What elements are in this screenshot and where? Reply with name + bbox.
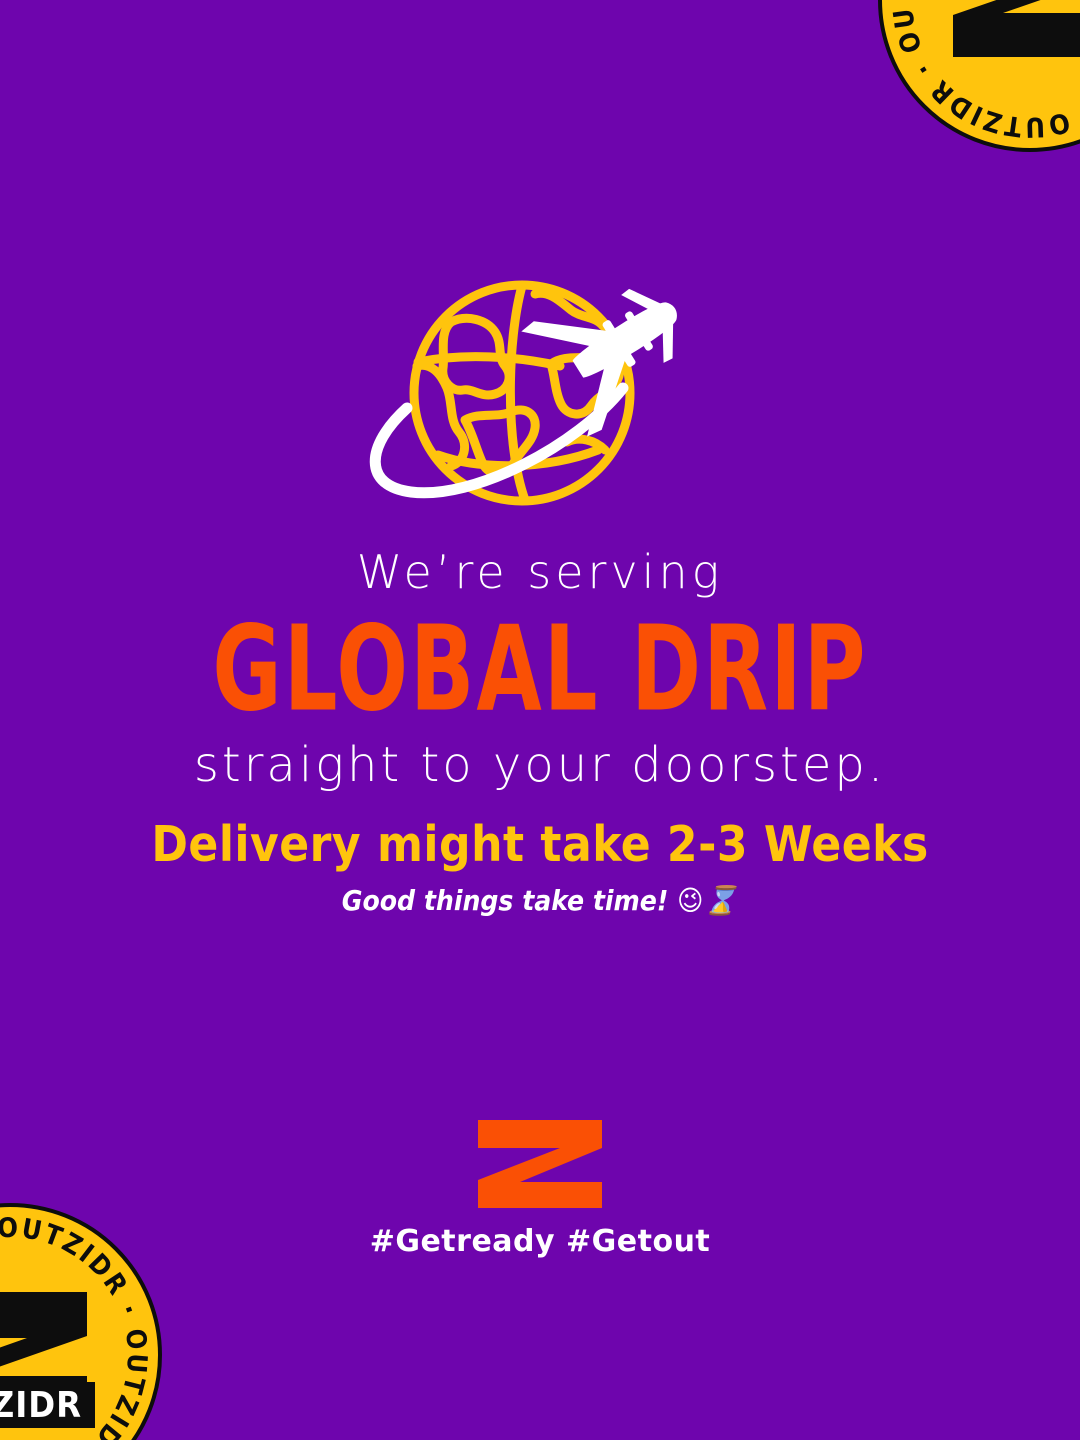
delivery-note: Good things take time! 😉⌛ [0, 886, 1080, 917]
subline-text: straight to your doorstep. [0, 740, 1080, 790]
delivery-block: Delivery might take 2-3 Weeks Good thing… [0, 818, 1080, 917]
hashtags-text: #Getready #Getout [0, 1224, 1080, 1259]
continent-west [417, 365, 465, 466]
poster-canvas: OUTZIDR · OUTZIDR · OUTZIDR · OUTZIDR · … [0, 0, 1080, 1440]
badge-wordmark: OUTZIDR [0, 1382, 95, 1428]
headline-block: We’re serving GLOBAL DRIP straight to yo… [0, 548, 1080, 790]
eyebrow-text: We’re serving [0, 548, 1080, 596]
page-title: GLOBAL DRIP [0, 606, 1080, 733]
footer-block: #Getready #Getout [0, 1118, 1080, 1259]
delivery-estimate: Delivery might take 2-3 Weeks [0, 818, 1080, 872]
badge-top-right: OUTZIDR · OUTZIDR · OUTZIDR · OUTZIDR · … [875, 0, 1080, 155]
globe-airplane-icon [355, 270, 715, 515]
outzidr-z-logo [476, 1118, 604, 1210]
svg-text:OUTZIDR: OUTZIDR [0, 1385, 82, 1426]
